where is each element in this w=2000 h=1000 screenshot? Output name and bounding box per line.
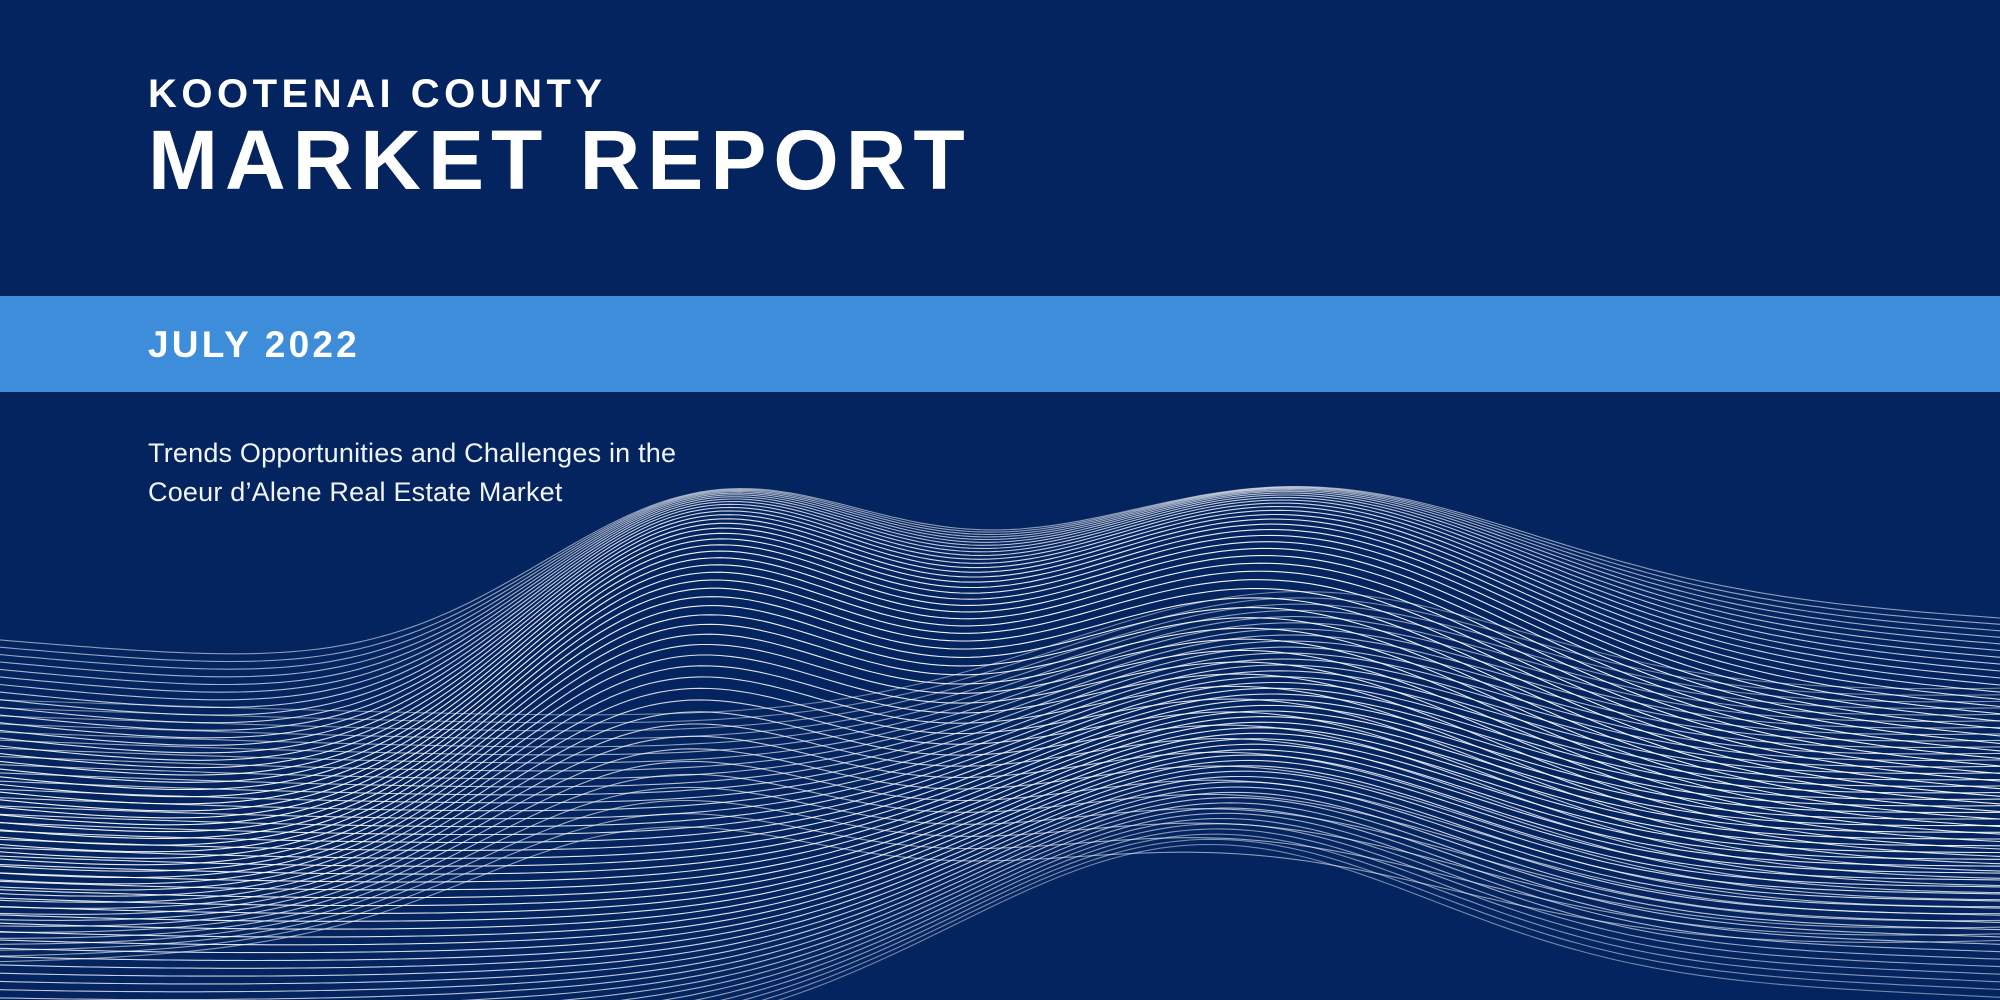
page-title: MARKET REPORT xyxy=(148,118,972,202)
header-block: KOOTENAI COUNTY MARKET REPORT xyxy=(0,0,2000,296)
report-date: JULY 2022 xyxy=(148,326,360,363)
subtitle-line-2: Coeur d’Alene Real Estate Market xyxy=(148,473,676,512)
accent-band: JULY 2022 xyxy=(0,296,2000,392)
market-report-cover: KOOTENAI COUNTY MARKET REPORT JULY 2022 … xyxy=(0,0,2000,1000)
subtitle-line-1: Trends Opportunities and Challenges in t… xyxy=(148,434,676,473)
subtitle: Trends Opportunities and Challenges in t… xyxy=(148,434,676,512)
eyebrow-text: KOOTENAI COUNTY xyxy=(148,74,607,114)
